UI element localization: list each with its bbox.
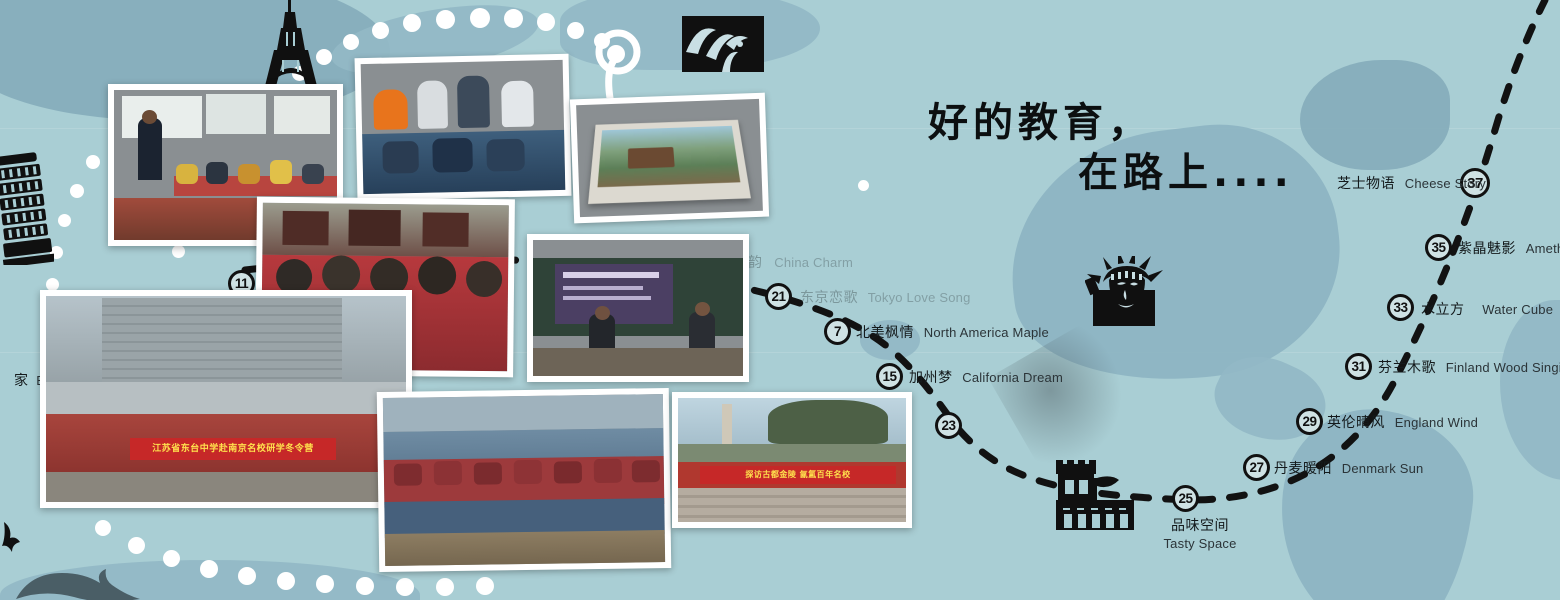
stop-label-water-cube-en: Water Cube — [1482, 302, 1553, 317]
eiffel-tower-icon — [252, 0, 330, 90]
stop-label-finland-wood-singing: 芬兰木歌 Finland Wood Singing — [1378, 357, 1560, 377]
stop-label-cheese-story: 芝士物语 Cheese Story — [1337, 173, 1486, 193]
leaning-tower-of-pisa-icon — [0, 140, 54, 265]
photo-lecture-hall-image — [533, 240, 743, 376]
headline-line-1: 好的教育， — [928, 98, 1153, 148]
route-marker-25[interactable]: 25 — [1172, 485, 1199, 512]
photo-auditorium-image — [383, 394, 665, 566]
stop-label-north-america-maple-en: North America Maple — [924, 325, 1049, 340]
stop-label-clipped-left-cn: 家 — [14, 372, 29, 388]
stop-label-china-charm-cn: 韵 — [748, 254, 763, 270]
landmass-greenland — [1300, 60, 1450, 170]
stop-label-china-charm: 韵 China Charm — [748, 252, 853, 272]
route-marker-27[interactable]: 27 — [1243, 454, 1270, 481]
stop-label-denmark-sun-en: Denmark Sun — [1342, 461, 1424, 476]
photo-lecture-hall[interactable] — [527, 234, 749, 382]
photo-memorial-steps[interactable]: 探访古都金陵 氤氲百年名校 — [672, 392, 912, 528]
stop-label-california-dream-cn: 加州梦 — [909, 369, 953, 385]
stop-label-cheese-story-cn: 芝士物语 — [1337, 175, 1395, 191]
route-marker-33[interactable]: 33 — [1387, 294, 1414, 321]
stop-label-tokyo-love-song-en: Tokyo Love Song — [868, 290, 971, 305]
stop-label-england-wind-cn: 英伦晴风 — [1327, 414, 1385, 430]
statue-of-liberty-icon — [1085, 256, 1167, 326]
stop-label-england-wind-en: England Wind — [1395, 415, 1478, 430]
route-marker-29[interactable]: 29 — [1296, 408, 1323, 435]
photo-auditorium[interactable] — [377, 388, 671, 572]
stop-label-amethyst-cn: 紫晶魅影 — [1458, 240, 1516, 256]
bird-icon — [0, 520, 24, 564]
stop-label-north-america-maple: 北美枫情 North America Maple — [856, 322, 1049, 342]
stop-label-denmark-sun: 丹麦暖阳 Denmark Sun — [1274, 458, 1423, 478]
stop-label-amethyst-en: Amethyst Ch — [1526, 241, 1560, 256]
swirl-icon[interactable] — [588, 28, 644, 98]
route-marker-35[interactable]: 35 — [1425, 234, 1452, 261]
route-marker-21[interactable]: 21 — [765, 283, 792, 310]
photo-tablet-display-image — [576, 99, 763, 217]
stop-label-tasty-space: 品味空间 Tasty Space — [1155, 516, 1245, 552]
stop-label-denmark-sun-cn: 丹麦暖阳 — [1274, 460, 1332, 476]
stop-label-tasty-space-cn: 品味空间 — [1155, 516, 1245, 535]
stop-label-china-charm-en: China Charm — [774, 255, 853, 270]
headline-line-2: 在路上.... — [1078, 148, 1294, 198]
stop-label-england-wind: 英伦晴风 England Wind — [1327, 412, 1478, 432]
castle-icon — [1048, 452, 1144, 530]
stop-label-finland-wood-singing-en: Finland Wood Singing — [1446, 360, 1560, 375]
stop-label-finland-wood-singing-cn: 芬兰木歌 — [1378, 359, 1436, 375]
route-marker-15[interactable]: 15 — [876, 363, 903, 390]
stop-label-water-cube: 水立方 Water Cube — [1421, 299, 1553, 319]
landmass-africa-edge — [1500, 300, 1560, 480]
route-marker-31[interactable]: 31 — [1345, 353, 1372, 380]
photo-memorial-steps-image: 探访古都金陵 氤氲百年名校 — [678, 398, 906, 522]
photo-campus-group[interactable]: 江苏省东台中学赴南京名校研学冬令营 — [40, 290, 412, 508]
study-tour-poster: 好的教育， 在路上.... 11 韵 China Charm 21 东京恋歌 T… — [0, 0, 1560, 600]
opera-house-icon — [682, 16, 764, 72]
photo-campus-group-banner: 江苏省东台中学赴南京名校研学冬令营 — [130, 438, 336, 460]
stop-label-amethyst: 紫晶魅影 Amethyst Ch — [1458, 238, 1560, 258]
dolphin-icon — [14, 555, 144, 600]
stop-label-tokyo-love-song: 东京恋歌 Tokyo Love Song — [800, 287, 971, 307]
route-marker-23[interactable]: 23 — [935, 412, 962, 439]
photo-students-activity[interactable] — [355, 54, 572, 200]
route-marker-7[interactable]: 7 — [824, 318, 851, 345]
photo-campus-group-image: 江苏省东台中学赴南京名校研学冬令营 — [46, 296, 406, 502]
stop-label-north-america-maple-cn: 北美枫情 — [856, 324, 914, 340]
stop-label-cheese-story-en: Cheese Story — [1405, 176, 1486, 191]
stop-label-california-dream-en: California Dream — [962, 370, 1063, 385]
stop-label-california-dream: 加州梦 California Dream — [909, 367, 1063, 387]
stop-label-tasty-space-en: Tasty Space — [1155, 535, 1245, 553]
stop-label-tokyo-love-song-cn: 东京恋歌 — [800, 289, 858, 305]
photo-tablet-display[interactable] — [570, 93, 769, 224]
photo-memorial-steps-banner: 探访古都金陵 氤氲百年名校 — [700, 466, 896, 484]
stop-label-water-cube-cn: 水立方 — [1421, 301, 1465, 317]
photo-students-activity-image — [361, 60, 566, 194]
